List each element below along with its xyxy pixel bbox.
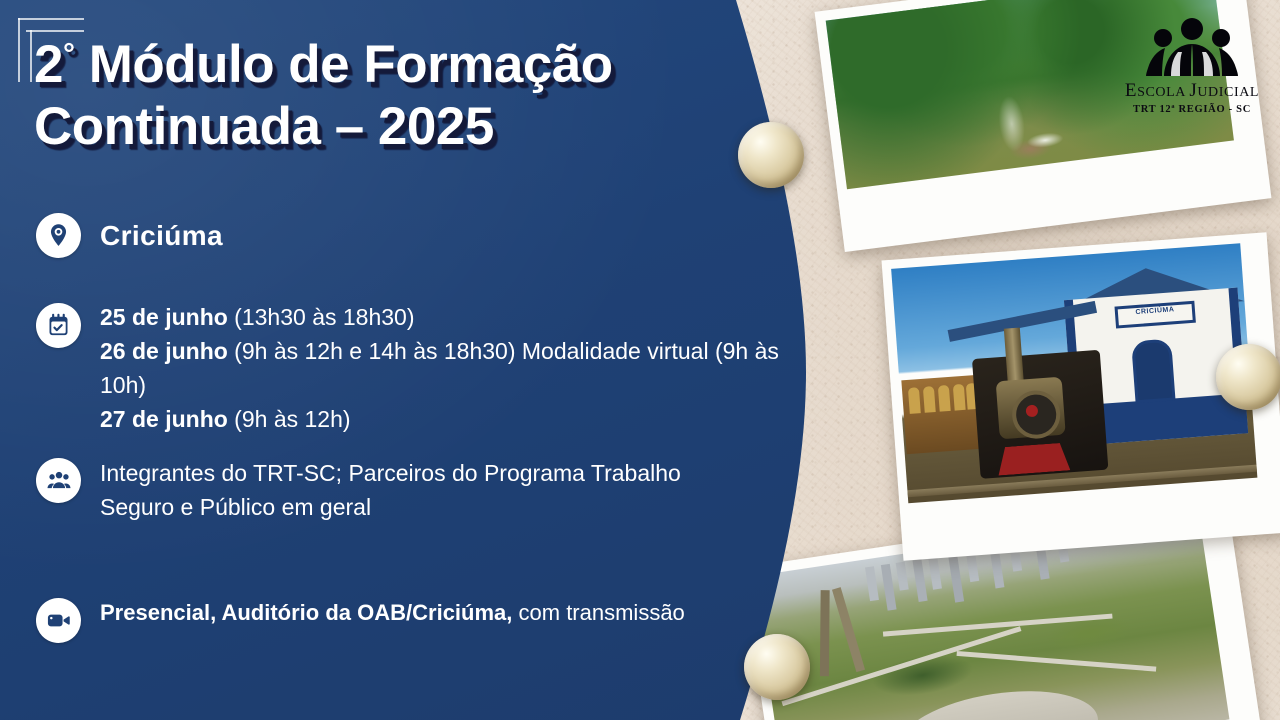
date-line-2: 26 de junho (9h às 12h e 14h às 18h30) M…	[100, 334, 826, 402]
page-title: 2° Módulo de Formação Continuada – 2025	[34, 34, 734, 158]
map-pin-icon	[36, 213, 81, 258]
train-carriage	[901, 375, 984, 455]
date-line-3: 27 de junho (9h às 12h)	[100, 402, 826, 436]
audience-row: Integrantes do TRT-SC; Parceiros do Prog…	[36, 458, 736, 524]
logo-name-udicial: UDICIAL	[1197, 85, 1259, 100]
date-line-1: 25 de junho (13h30 às 18h30)	[100, 300, 826, 334]
station-door	[1131, 339, 1175, 404]
logo-name: ESCOLA JUDICIAL	[1108, 81, 1276, 103]
people-group-icon	[36, 458, 81, 503]
poster-canvas: CRICIÚMA 2° Módulo de Formação Conti	[0, 0, 1280, 720]
logo-name-e: E	[1125, 80, 1137, 101]
logo-name-scola: SCOLA	[1137, 85, 1189, 100]
title-line-2: Continuada – 2025	[34, 97, 494, 156]
calendar-check-icon	[36, 303, 81, 348]
format-text: Presencial, Auditório da OAB/Criciúma, c…	[100, 596, 685, 629]
photo-train-station-image: CRICIÚMA	[891, 243, 1257, 503]
dates-row: 25 de junho (13h30 às 18h30) 26 de junho…	[36, 303, 826, 436]
date-1-bold: 25 de junho	[100, 304, 228, 330]
photo-train-station: CRICIÚMA	[881, 232, 1280, 560]
photo-aerial-monument-2	[832, 587, 865, 672]
logo-subtitle: TRT 12ª REGIÃO - SC	[1108, 104, 1276, 115]
pearl-decoration-right	[1216, 344, 1280, 410]
audience-text: Integrantes do TRT-SC; Parceiros do Prog…	[100, 456, 736, 524]
station-sign-text: CRICIÚMA	[1118, 304, 1193, 319]
location-row: Criciúma	[36, 213, 223, 258]
format-row: Presencial, Auditório da OAB/Criciúma, c…	[36, 598, 776, 643]
title-degree-symbol: °	[63, 37, 75, 70]
title-line-1: Módulo de Formação	[74, 35, 612, 94]
dates-text: 25 de junho (13h30 às 18h30) 26 de junho…	[100, 300, 826, 436]
title-number: 2	[34, 35, 63, 94]
location-label: Criciúma	[100, 213, 223, 258]
pearl-decoration-top	[738, 122, 804, 188]
date-3-rest: (9h às 12h)	[228, 406, 351, 432]
format-bold: Presencial, Auditório da OAB/Criciúma,	[100, 600, 512, 625]
video-camera-icon	[36, 598, 81, 643]
date-3-bold: 27 de junho	[100, 406, 228, 432]
photo-aerial-monument	[820, 590, 830, 676]
date-1-rest: (13h30 às 18h30)	[228, 304, 415, 330]
escola-judicial-logo-icon	[1108, 18, 1276, 80]
photo-aerial-skatepark	[894, 679, 1103, 720]
escola-judicial-logo: ESCOLA JUDICIAL TRT 12ª REGIÃO - SC	[1108, 18, 1276, 115]
date-2-bold: 26 de junho	[100, 338, 228, 364]
locomotive-chimney	[1004, 328, 1024, 385]
format-rest: com transmissão	[512, 600, 684, 625]
pearl-decoration-bottom	[744, 634, 810, 700]
locomotive-cowcatcher	[997, 442, 1071, 475]
